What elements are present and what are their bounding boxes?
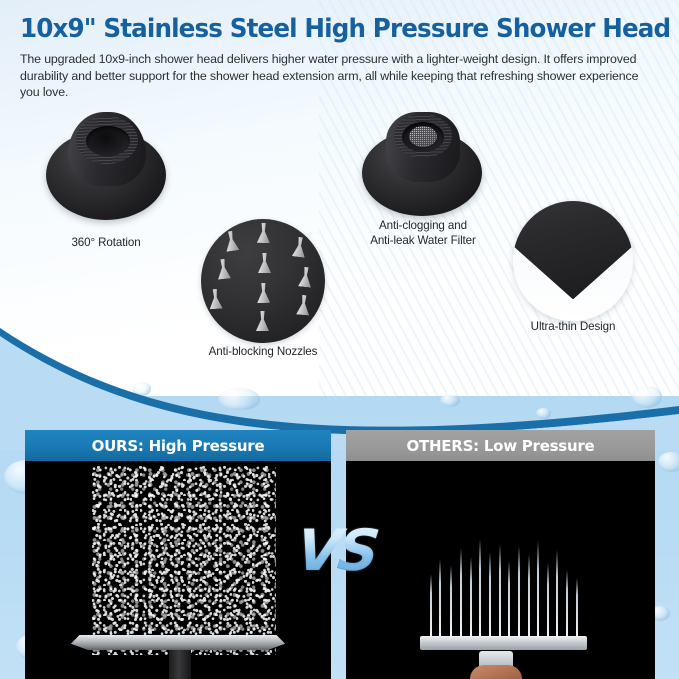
feature-label-rotation: 360° Rotation <box>36 236 176 251</box>
shower-head-plate-others <box>420 636 587 650</box>
feature-image-water-filter <box>362 112 482 216</box>
high-pressure-spray-overlay <box>92 466 276 655</box>
feature-label-nozzles: Anti-blocking Nozzles <box>183 345 343 360</box>
header: 10x9" Stainless Steel High Pressure Show… <box>20 14 665 101</box>
panel-photo-ours <box>25 461 331 679</box>
product-infographic: 10x9" Stainless Steel High Pressure Show… <box>0 0 679 679</box>
feature-label-ultra-thin: Ultra-thin Design <box>503 320 643 335</box>
shower-head-plate-ours <box>71 635 285 650</box>
shower-head-stem-ours <box>169 650 191 679</box>
page-title: 10x9" Stainless Steel High Pressure Show… <box>20 14 642 44</box>
versus-badge: VS <box>293 518 380 584</box>
feature-image-ultra-thin <box>513 201 633 321</box>
water-droplet <box>658 452 679 472</box>
feature-image-rotation <box>46 112 166 220</box>
comparison-panel-ours: OURS: High Pressure <box>25 430 331 679</box>
comparison-panel-others: OTHERS: Low Pressure <box>346 430 655 679</box>
panel-heading-ours: OURS: High Pressure <box>25 430 331 461</box>
feature-image-nozzles <box>201 219 325 343</box>
hand-holding-shower-head <box>470 665 522 679</box>
low-pressure-streams <box>426 529 587 637</box>
page-subtitle: The upgraded 10x9-inch shower head deliv… <box>20 51 660 101</box>
panel-heading-others: OTHERS: Low Pressure <box>346 430 655 461</box>
feature-label-water-filter: Anti-clogging and Anti-leak Water Filter <box>346 219 500 248</box>
panel-photo-others <box>346 461 655 679</box>
